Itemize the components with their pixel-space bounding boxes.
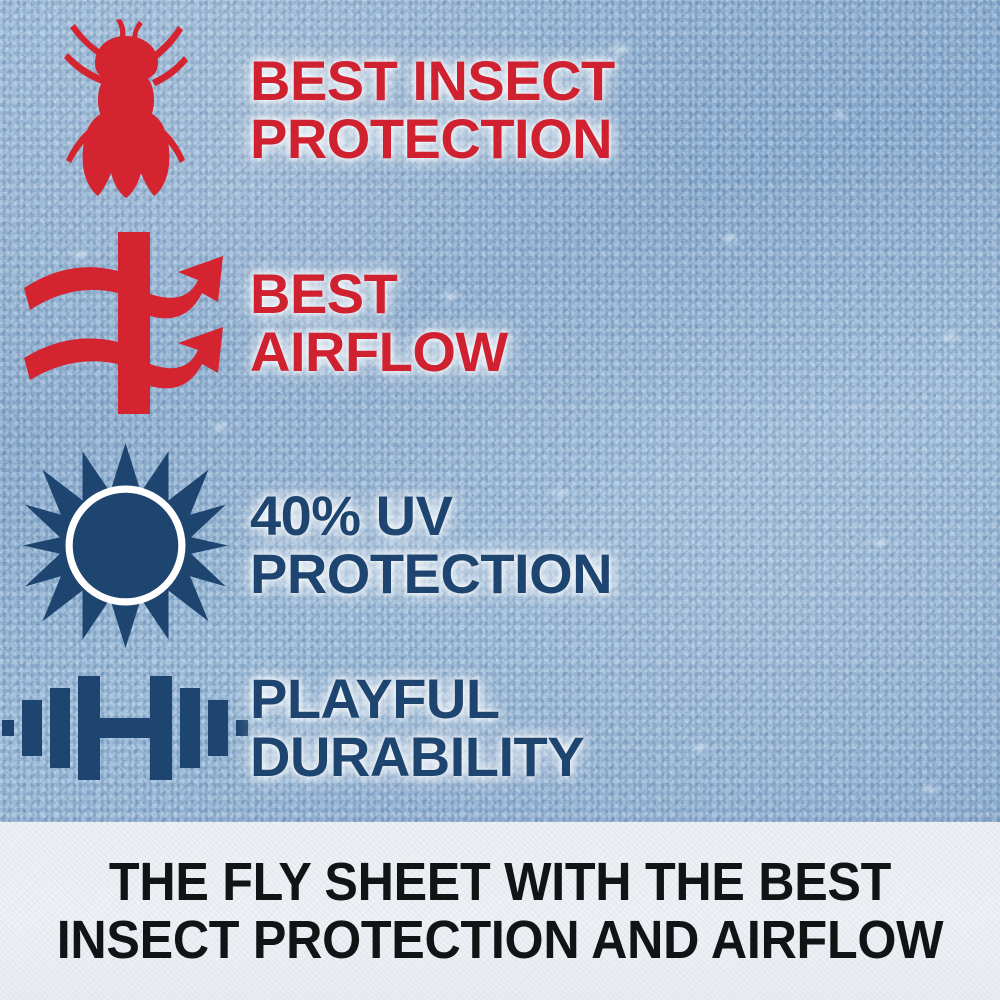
feature-row-airflow: BESTAIRFLOW bbox=[0, 225, 940, 420]
feature-text-cell-durability: PLAYFULDURABILITY bbox=[250, 670, 940, 785]
airflow-arrows-icon bbox=[18, 230, 233, 415]
feature-text-cell-airflow: BESTAIRFLOW bbox=[250, 265, 940, 380]
feature-icon-cell-insect bbox=[0, 18, 250, 203]
caption-band: THE FLY SHEET WITH THE BESTINSECT PROTEC… bbox=[0, 822, 1000, 1000]
feature-heading-insect: BEST INSECTPROTECTION bbox=[250, 52, 940, 167]
feature-heading-line2-durability: DURABILITY bbox=[250, 725, 584, 788]
product-infographic: BEST INSECTPROTECTION bbox=[0, 0, 1000, 1000]
caption-line1: THE FLY SHEET WITH THE BEST bbox=[109, 852, 891, 912]
feature-heading-line1-durability: PLAYFUL bbox=[250, 667, 500, 730]
feature-heading-durability: PLAYFULDURABILITY bbox=[250, 670, 940, 785]
dumbbell-icon bbox=[0, 668, 250, 788]
feature-row-durability: PLAYFULDURABILITY bbox=[0, 650, 940, 805]
caption-text: THE FLY SHEET WITH THE BESTINSECT PROTEC… bbox=[35, 853, 965, 970]
feature-text-cell-uv: 40% UVPROTECTION bbox=[250, 487, 940, 602]
feature-heading-line2-insect: PROTECTION bbox=[250, 107, 612, 170]
fly-icon bbox=[50, 18, 200, 203]
feature-icon-cell-uv bbox=[0, 443, 250, 648]
feature-icon-cell-durability bbox=[0, 668, 250, 788]
feature-icon-cell-airflow bbox=[0, 230, 250, 415]
caption-line2: INSECT PROTECTION AND AIRFLOW bbox=[57, 910, 944, 970]
feature-row-insect-protection: BEST INSECTPROTECTION bbox=[0, 10, 940, 210]
feature-heading-line2-airflow: AIRFLOW bbox=[250, 320, 508, 383]
feature-heading-line1-uv: 40% UV bbox=[250, 484, 452, 547]
feature-heading-line1-airflow: BEST bbox=[250, 262, 397, 325]
feature-heading-airflow: BESTAIRFLOW bbox=[250, 265, 940, 380]
feature-heading-line1-insect: BEST INSECT bbox=[250, 49, 615, 112]
sun-burst-icon bbox=[23, 443, 228, 648]
feature-text-cell-insect: BEST INSECTPROTECTION bbox=[250, 52, 940, 167]
feature-row-uv-protection: 40% UVPROTECTION bbox=[0, 440, 940, 650]
feature-heading-uv: 40% UVPROTECTION bbox=[250, 487, 940, 602]
feature-heading-line2-uv: PROTECTION bbox=[250, 542, 612, 605]
